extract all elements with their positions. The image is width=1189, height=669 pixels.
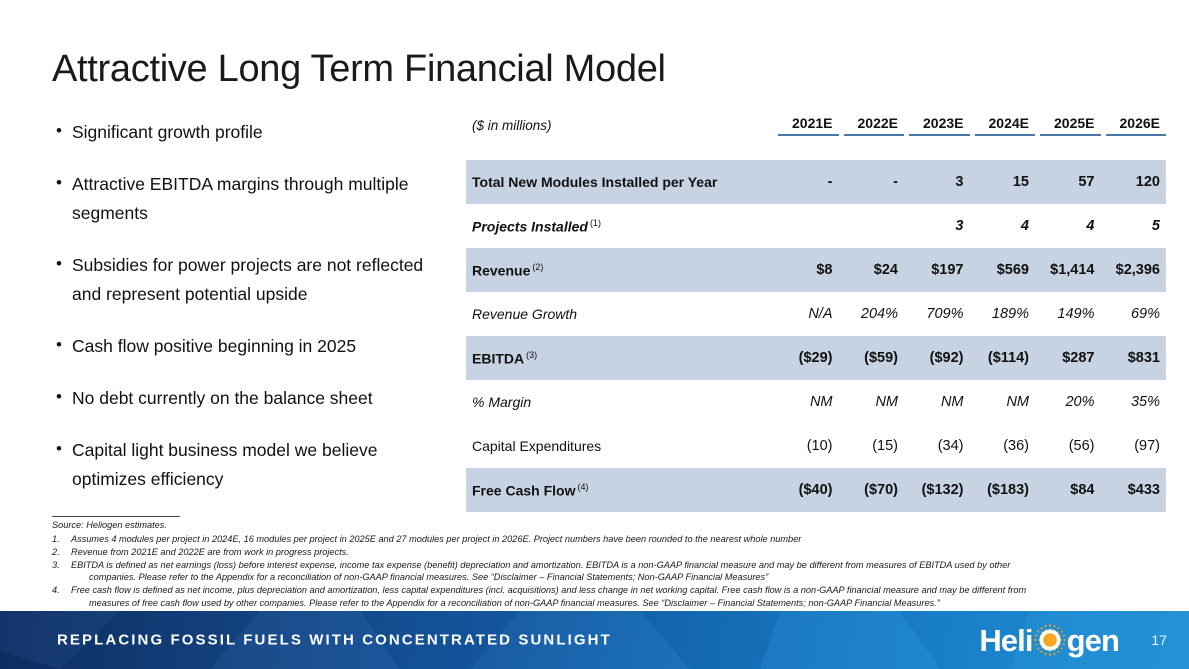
bullet-item-4: •No debt currently on the balance sheet [56, 384, 456, 413]
bullet-marker: • [56, 170, 72, 196]
footnote-text: Free cash flow is defined as net income,… [71, 584, 1162, 608]
table-cell-2022E: - [844, 174, 905, 190]
footnote-text: EBITDA is defined as net earnings (loss)… [71, 559, 1162, 583]
table-row: Revenue GrowthN/A204%709%189%149%69% [466, 292, 1166, 336]
table-cell-2026E: 69% [1106, 306, 1167, 322]
table-body: Total New Modules Installed per Year--31… [466, 160, 1166, 512]
table-cell-2024E: 189% [975, 306, 1036, 322]
units-label: ($ in millions) [466, 118, 778, 133]
bullet-marker: • [56, 436, 72, 462]
table-cell-2023E: $197 [909, 262, 970, 278]
table-cell-2025E: (56) [1040, 438, 1101, 454]
footnote-marker: (1) [590, 218, 601, 228]
table-cell-2021E: (10) [778, 438, 839, 454]
bullet-text: Capital light business model we believe … [72, 436, 456, 494]
table-cell-2021E: NM [778, 394, 839, 410]
table-cell-2021E: - [778, 174, 839, 190]
table-cell-2025E: 20% [1040, 394, 1101, 410]
footer-tagline: REPLACING FOSSIL FUELS WITH CONCENTRATED… [57, 632, 612, 649]
table-cell-2026E: 5 [1106, 218, 1167, 234]
footnote-list: 1.Assumes 4 modules per project in 2024E… [52, 533, 1162, 609]
table-cell-2024E: (36) [975, 438, 1036, 454]
footnote-number: 2. [52, 546, 71, 558]
table-cell-2022E: $24 [844, 262, 905, 278]
table-cell-2022E: ($70) [844, 482, 905, 498]
table-cell-2021E: N/A [778, 306, 839, 322]
footnote-text: Revenue from 2021E and 2022E are from wo… [71, 546, 1162, 558]
row-label: Projects Installed(1) [466, 218, 778, 235]
bullet-text: Cash flow positive beginning in 2025 [72, 332, 356, 361]
footnote-marker: (3) [526, 350, 537, 360]
footnote-number: 4. [52, 584, 71, 608]
table-cell-2023E: ($92) [909, 350, 970, 366]
financial-table: ($ in millions) 2021E 2022E 2023E 2024E … [466, 108, 1166, 512]
bullet-item-1: •Attractive EBITDA margins through multi… [56, 170, 456, 228]
table-cell-2021E: $8 [778, 262, 839, 278]
table-cell-2025E: $1,414 [1040, 262, 1101, 278]
row-label: Total New Modules Installed per Year [466, 174, 778, 190]
table-cell-2026E: $433 [1106, 482, 1167, 498]
table-cell-2023E: 3 [909, 218, 970, 234]
table-cell-2024E: ($183) [975, 482, 1036, 498]
table-row: Capital Expenditures(10)(15)(34)(36)(56)… [466, 424, 1166, 468]
table-cell-2026E: (97) [1106, 438, 1167, 454]
table-cell-2025E: 149% [1040, 306, 1101, 322]
table-cell-2026E: $831 [1106, 350, 1167, 366]
table-row: Revenue(2)$8$24$197$569$1,414$2,396 [466, 248, 1166, 292]
table-row: Projects Installed(1)3445 [466, 204, 1166, 248]
bullet-item-2: •Subsidies for power projects are not re… [56, 251, 456, 309]
footnote-number: 3. [52, 559, 71, 583]
bullet-text: Subsidies for power projects are not ref… [72, 251, 456, 309]
table-cell-2025E: 57 [1040, 174, 1101, 190]
column-header-2025e: 2025E [1040, 115, 1101, 136]
footnote-item-3: 3.EBITDA is defined as net earnings (los… [52, 559, 1162, 583]
column-header-2023e: 2023E [909, 115, 970, 136]
column-header-2022e: 2022E [844, 115, 905, 136]
bullet-item-3: •Cash flow positive beginning in 2025 [56, 332, 456, 361]
source-line: Source: Heliogen estimates. [52, 519, 1162, 532]
footnote-item-2: 2.Revenue from 2021E and 2022E are from … [52, 546, 1162, 558]
bullet-marker: • [56, 118, 72, 144]
heliogen-logo: Heli [979, 623, 1119, 657]
row-label: Free Cash Flow(4) [466, 482, 778, 499]
bullet-marker: • [56, 384, 72, 410]
footnote-marker: (4) [577, 482, 588, 492]
slide: Attractive Long Term Financial Model •Si… [0, 0, 1189, 669]
footnote-marker: (2) [532, 262, 543, 272]
row-label: Revenue Growth [466, 306, 778, 322]
footer-bar: REPLACING FOSSIL FUELS WITH CONCENTRATED… [0, 611, 1189, 669]
table-row: Total New Modules Installed per Year--31… [466, 160, 1166, 204]
table-cell-2022E: (15) [844, 438, 905, 454]
table-cell-2024E: ($114) [975, 350, 1036, 366]
bullet-list: •Significant growth profile•Attractive E… [56, 118, 456, 517]
table-cell-2025E: $84 [1040, 482, 1101, 498]
row-label: EBITDA(3) [466, 350, 778, 367]
table-cell-2022E: NM [844, 394, 905, 410]
bullet-text: Attractive EBITDA margins through multip… [72, 170, 456, 228]
column-header-2024e: 2024E [975, 115, 1036, 136]
table-row: Free Cash Flow(4)($40)($70)($132)($183)$… [466, 468, 1166, 512]
table-cell-2023E: 709% [909, 306, 970, 322]
footnote-text-cont: companies. Please refer to the Appendix … [71, 571, 1162, 583]
logo-text-heli: Heli [979, 625, 1032, 656]
table-cell-2025E: 4 [1040, 218, 1101, 234]
table-cell-2024E: NM [975, 394, 1036, 410]
footnote-number: 1. [52, 533, 71, 545]
table-cell-2024E: $569 [975, 262, 1036, 278]
table-header-row: ($ in millions) 2021E 2022E 2023E 2024E … [466, 108, 1166, 142]
page-number: 17 [1151, 632, 1167, 648]
column-header-2021e: 2021E [778, 115, 839, 136]
table-cell-2023E: NM [909, 394, 970, 410]
row-label: Revenue(2) [466, 262, 778, 279]
footnote-text-cont: measures of free cash flow used by other… [71, 597, 1162, 609]
table-cell-2023E: ($132) [909, 482, 970, 498]
footnotes-block: Source: Heliogen estimates. 1.Assumes 4 … [52, 516, 1162, 609]
footnote-item-1: 1.Assumes 4 modules per project in 2024E… [52, 533, 1162, 545]
sun-icon [1033, 623, 1067, 657]
footnote-divider [52, 516, 180, 517]
column-header-2026e: 2026E [1106, 115, 1167, 136]
table-cell-2022E: 204% [844, 306, 905, 322]
bullet-text: No debt currently on the balance sheet [72, 384, 373, 413]
row-label: % Margin [466, 394, 778, 410]
row-label: Capital Expenditures [466, 438, 778, 454]
page-title: Attractive Long Term Financial Model [52, 48, 666, 91]
table-cell-2026E: 120 [1106, 174, 1167, 190]
bullet-item-5: •Capital light business model we believe… [56, 436, 456, 494]
bullet-marker: • [56, 332, 72, 358]
footnote-item-4: 4.Free cash flow is defined as net incom… [52, 584, 1162, 608]
table-cell-2022E: ($59) [844, 350, 905, 366]
table-cell-2025E: $287 [1040, 350, 1101, 366]
bullet-text: Significant growth profile [72, 118, 263, 147]
table-cell-2023E: (34) [909, 438, 970, 454]
table-row: EBITDA(3)($29)($59)($92)($114)$287$831 [466, 336, 1166, 380]
table-cell-2021E: ($40) [778, 482, 839, 498]
bullet-marker: • [56, 251, 72, 277]
table-cell-2026E: $2,396 [1106, 262, 1167, 278]
table-cell-2021E: ($29) [778, 350, 839, 366]
table-cell-2026E: 35% [1106, 394, 1167, 410]
table-cell-2024E: 15 [975, 174, 1036, 190]
table-row: % MarginNMNMNMNM20%35% [466, 380, 1166, 424]
table-cell-2024E: 4 [975, 218, 1036, 234]
table-cell-2023E: 3 [909, 174, 970, 190]
logo-text-gen: gen [1067, 625, 1119, 656]
footnote-text: Assumes 4 modules per project in 2024E, … [71, 533, 1162, 545]
bullet-item-0: •Significant growth profile [56, 118, 456, 147]
